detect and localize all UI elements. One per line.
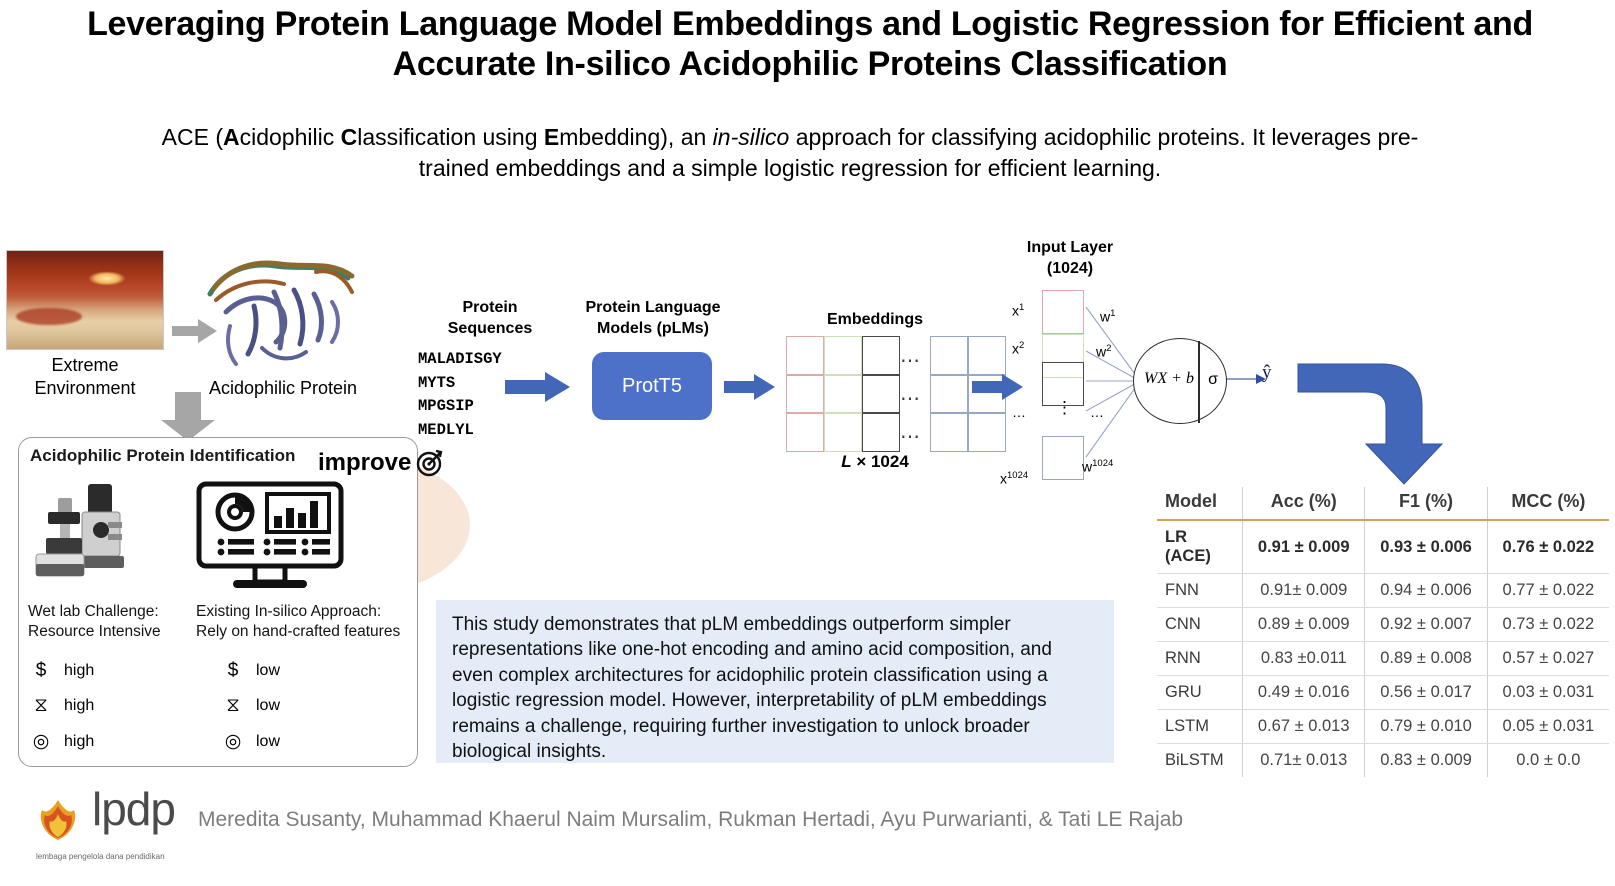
lpdp-flame-icon <box>28 794 88 852</box>
insilico-caption: Existing In-silico Approach: Rely on han… <box>196 602 406 643</box>
target-icon: ◎ <box>222 730 244 753</box>
wet-lab-caption: Wet lab Challenge: Resource Intensive <box>28 602 188 643</box>
weight-label-wn: w1024 <box>1082 458 1113 475</box>
cell-f1: 0.83 ± 0.009 <box>1365 744 1487 778</box>
cell-f1: 0.89 ± 0.008 <box>1365 642 1487 676</box>
logistic-regression-neuron: WX + b σ <box>1133 338 1227 424</box>
w1-sup: 1 <box>1110 308 1115 319</box>
insilico-time-value: low <box>256 697 280 715</box>
w1-base: w <box>1100 309 1110 325</box>
wet-lab-metric-time: ⧖ high <box>30 695 94 717</box>
blue-arrow-to-plm-icon <box>505 370 571 404</box>
blue-arrow-to-embeddings-icon <box>724 372 776 402</box>
model-name-line1: LR <box>1165 528 1236 547</box>
subtitle-part4: mbedding), an <box>559 124 712 150</box>
dollar-icon: $ <box>222 660 244 682</box>
subtitle-part2: cidophilic <box>240 124 341 150</box>
embedding-ellipsis-2: ⋯ <box>900 386 921 411</box>
embedding-cell <box>930 375 968 414</box>
table-row: LSTM 0.67 ± 0.013 0.79 ± 0.010 0.05 ± 0.… <box>1157 710 1609 744</box>
sequences-head-line1: Protein <box>420 298 560 319</box>
input-layer-line1: Input Layer <box>990 238 1150 259</box>
cell-f1: 0.94 ± 0.006 <box>1365 574 1487 608</box>
improve-label: improve <box>318 449 411 477</box>
subtitle-italic: in-silico <box>713 124 790 150</box>
x1-base: x <box>1012 303 1019 319</box>
column-header-mcc: MCC (%) <box>1487 487 1609 520</box>
lpdp-wordmark: lpdp <box>92 786 175 832</box>
output-yhat-label: ŷ <box>1262 362 1272 384</box>
cell-model: RNN <box>1157 642 1243 676</box>
neuron-formula: WX + b <box>1140 370 1198 388</box>
hourglass-icon: ⧖ <box>30 695 52 717</box>
embedding-cell <box>862 413 900 452</box>
subtitle-bold-e: E <box>544 124 559 150</box>
page-subtitle: ACE (Acidophilic Classification using Em… <box>130 122 1450 183</box>
dollar-icon: $ <box>30 660 52 682</box>
cell-acc: 0.91 ± 0.009 <box>1243 520 1365 574</box>
embedding-cell <box>824 336 862 375</box>
embedding-cell <box>786 336 824 375</box>
cell-acc: 0.67 ± 0.013 <box>1243 710 1365 744</box>
blue-arrow-to-input-layer-icon <box>972 372 1024 402</box>
model-name-line2: (ACE) <box>1165 547 1236 566</box>
results-table: Model Acc (%) F1 (%) MCC (%) LR (ACE) 0.… <box>1157 487 1609 777</box>
embedding-column-3 <box>862 336 900 452</box>
input-layer-line2: (1024) <box>990 259 1150 280</box>
prott5-model-box[interactable]: ProtT5 <box>592 352 712 420</box>
w2-base: w <box>1096 344 1106 360</box>
embedding-cell <box>786 375 824 414</box>
cell-acc: 0.83 ±0.011 <box>1243 642 1365 676</box>
target-icon: ◎ <box>30 730 52 753</box>
embedding-cell <box>786 413 824 452</box>
embedding-cell <box>968 413 1006 452</box>
xn-sup: 1024 <box>1007 470 1028 481</box>
page-title: Leveraging Protein Language Model Embedd… <box>60 4 1560 84</box>
cell-f1: 0.93 ± 0.006 <box>1365 520 1487 574</box>
id-panel-title: Acidophilic Protein Identification <box>30 446 295 466</box>
env-label-line1: Extreme <box>0 354 170 377</box>
input-label-x2: x2 <box>1012 340 1024 357</box>
cell-acc: 0.91± 0.009 <box>1243 574 1365 608</box>
dashboard-monitor-icon <box>195 480 345 592</box>
table-row: FNN 0.91± 0.009 0.94 ± 0.006 0.77 ± 0.02… <box>1157 574 1609 608</box>
cell-f1: 0.92 ± 0.007 <box>1365 608 1487 642</box>
table-row: LR (ACE) 0.91 ± 0.009 0.93 ± 0.006 0.76 … <box>1157 520 1609 574</box>
embedding-column-4 <box>930 336 968 452</box>
x2-base: x <box>1012 341 1019 357</box>
subtitle-part3: lassification using <box>357 124 544 150</box>
cell-model: LR (ACE) <box>1157 520 1243 574</box>
column-header-model: Model <box>1157 487 1243 520</box>
insilico-caption-line2: Rely on hand-crafted features <box>196 622 406 642</box>
sequences-head-line2: Sequences <box>420 319 560 340</box>
column-header-acc: Acc (%) <box>1243 487 1365 520</box>
cell-mcc: 0.0 ± 0.0 <box>1487 744 1609 778</box>
weight-label-w1: w1 <box>1100 308 1115 325</box>
wet-lab-metric-effort: ◎ high <box>30 730 94 753</box>
cell-mcc: 0.77 ± 0.022 <box>1487 574 1609 608</box>
x2-sup: 2 <box>1019 340 1024 351</box>
x1-sup: 1 <box>1019 302 1024 313</box>
curved-blue-arrow-to-results-icon <box>1296 358 1446 486</box>
input-layer-heading: Input Layer (1024) <box>990 238 1150 280</box>
embedding-cell <box>824 413 862 452</box>
embeddings-heading: Embeddings <box>800 310 950 331</box>
input-label-x1: x1 <box>1012 302 1024 319</box>
cell-acc: 0.89 ± 0.009 <box>1243 608 1365 642</box>
input-label-xn: x1024 <box>1000 470 1028 487</box>
subtitle-bold-a: A <box>223 124 240 150</box>
wet-lab-effort-value: high <box>64 733 94 751</box>
insilico-metric-effort: ◎ low <box>222 730 280 753</box>
w2-sup: 2 <box>1106 343 1111 354</box>
table-header-row: Model Acc (%) F1 (%) MCC (%) <box>1157 487 1609 520</box>
input-node-1 <box>1042 290 1084 334</box>
insilico-metric-time: ⧖ low <box>222 695 280 717</box>
extreme-environment-photo <box>6 250 164 350</box>
neuron-output-arrow-icon <box>1226 372 1266 386</box>
conclusion-text-box: This study demonstrates that pLM embeddi… <box>436 600 1114 763</box>
embedding-cell <box>862 336 900 375</box>
wn-base: w <box>1082 459 1092 475</box>
protein-sequences-list: MALADISGY MYTS MPGSIP MEDLYL <box>418 348 502 442</box>
embedding-ellipsis-1: ⋯ <box>900 348 921 373</box>
embedding-cell <box>862 375 900 414</box>
neuron-activation: σ <box>1200 371 1226 389</box>
table-row: GRU 0.49 ± 0.016 0.56 ± 0.017 0.03 ± 0.0… <box>1157 676 1609 710</box>
cell-mcc: 0.05 ± 0.031 <box>1487 710 1609 744</box>
env-label-line2: Environment <box>0 377 170 400</box>
insilico-metric-cost: $ low <box>222 660 280 682</box>
input-node-n <box>1042 436 1084 480</box>
improve-badge: improve <box>318 448 444 478</box>
embedding-column-2 <box>824 336 862 452</box>
embeddings-dim-L: L <box>841 452 851 471</box>
cell-model: BiLSTM <box>1157 744 1243 778</box>
cell-model: GRU <box>1157 676 1243 710</box>
input-ellipsis-left: … <box>1012 404 1026 420</box>
table-row: BiLSTM 0.71± 0.013 0.83 ± 0.009 0.0 ± 0.… <box>1157 744 1609 778</box>
wet-lab-caption-line1: Wet lab Challenge: <box>28 602 188 622</box>
cell-acc: 0.49 ± 0.016 <box>1243 676 1365 710</box>
cell-model: CNN <box>1157 608 1243 642</box>
embedding-column-1 <box>786 336 824 452</box>
embeddings-dim-rest: × 1024 <box>852 452 909 471</box>
lpdp-logo: lpdp lembaga pengelola dana pendidikan <box>28 790 178 870</box>
plm-head-line2: Models (pLMs) <box>578 319 728 340</box>
cell-f1: 0.56 ± 0.017 <box>1365 676 1487 710</box>
plm-heading: Protein Language Models (pLMs) <box>578 298 728 340</box>
target-icon <box>414 448 444 478</box>
cell-model: FNN <box>1157 574 1243 608</box>
embeddings-dimensions-label: L × 1024 <box>780 452 970 472</box>
wet-lab-caption-line2: Resource Intensive <box>28 622 188 642</box>
embedding-ellipsis-3: ⋯ <box>900 424 921 449</box>
plm-head-line1: Protein Language <box>578 298 728 319</box>
embedding-cell <box>824 375 862 414</box>
insilico-effort-value: low <box>256 733 280 751</box>
authors-line: Meredita Susanty, Muhammad Khaerul Naim … <box>198 808 1398 832</box>
protein-sequences-heading: Protein Sequences <box>420 298 560 340</box>
input-ellipsis-vertical: ⋮ <box>1056 398 1073 418</box>
cell-model: LSTM <box>1157 710 1243 744</box>
insilico-cost-value: low <box>256 662 280 680</box>
wn-sup: 1024 <box>1092 458 1113 469</box>
acidophilic-protein-structure-icon <box>196 248 366 376</box>
wet-lab-time-value: high <box>64 697 94 715</box>
embedding-cell <box>930 336 968 375</box>
cell-mcc: 0.73 ± 0.022 <box>1487 608 1609 642</box>
cell-mcc: 0.03 ± 0.031 <box>1487 676 1609 710</box>
extreme-environment-label: Extreme Environment <box>0 354 170 399</box>
lab-equipment-icon <box>30 478 155 588</box>
embeddings-head-label: Embeddings <box>800 310 950 331</box>
wet-lab-metric-cost: $ high <box>30 660 94 682</box>
cell-mcc: 0.76 ± 0.022 <box>1487 520 1609 574</box>
wet-lab-cost-value: high <box>64 662 94 680</box>
cell-f1: 0.79 ± 0.010 <box>1365 710 1487 744</box>
embedding-cell <box>968 336 1006 375</box>
hourglass-icon: ⧖ <box>222 695 244 717</box>
column-header-f1: F1 (%) <box>1365 487 1487 520</box>
cell-mcc: 0.57 ± 0.027 <box>1487 642 1609 676</box>
lpdp-tagline: lembaga pengelola dana pendidikan <box>36 852 206 861</box>
prott5-label: ProtT5 <box>622 375 682 398</box>
xn-base: x <box>1000 471 1007 487</box>
cell-acc: 0.71± 0.013 <box>1243 744 1365 778</box>
subtitle-part1: ACE ( <box>162 124 223 150</box>
subtitle-bold-c: C <box>341 124 358 150</box>
embedding-cell <box>930 413 968 452</box>
table-row: RNN 0.83 ±0.011 0.89 ± 0.008 0.57 ± 0.02… <box>1157 642 1609 676</box>
insilico-caption-line1: Existing In-silico Approach: <box>196 602 406 622</box>
weight-label-w2: w2 <box>1096 343 1111 360</box>
gray-arrow-down-icon <box>158 392 218 442</box>
table-row: CNN 0.89 ± 0.009 0.92 ± 0.007 0.73 ± 0.0… <box>1157 608 1609 642</box>
